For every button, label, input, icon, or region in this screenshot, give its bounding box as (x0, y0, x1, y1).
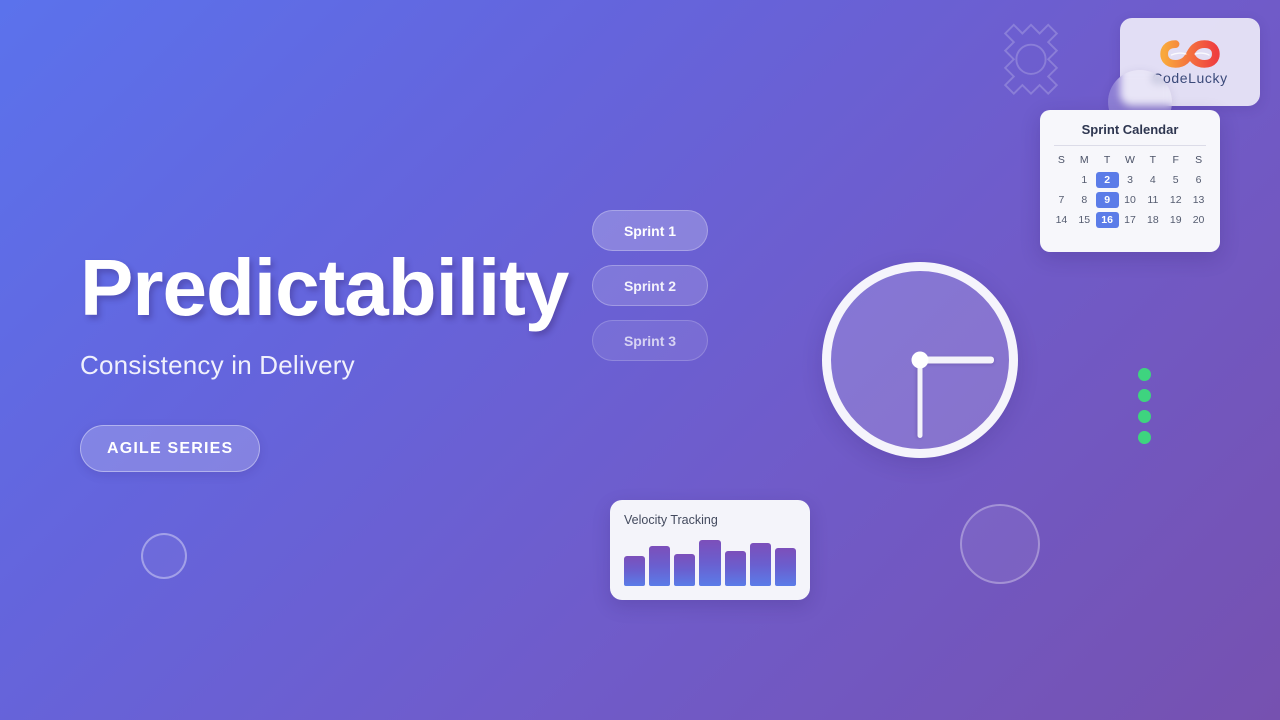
calendar-day (1050, 172, 1073, 188)
calendar-day[interactable]: 20 (1187, 212, 1210, 228)
status-dot-list (1138, 368, 1151, 444)
calendar-weekday-header: W (1119, 152, 1142, 168)
series-badge: AGILE SERIES (80, 425, 260, 472)
calendar-day[interactable]: 8 (1073, 192, 1096, 208)
status-dot (1138, 431, 1151, 444)
infinity-icon (1159, 39, 1221, 69)
calendar-title: Sprint Calendar (1050, 122, 1210, 137)
calendar-day[interactable]: 15 (1073, 212, 1096, 228)
sprint-list: Sprint 1 Sprint 2 Sprint 3 (592, 210, 708, 361)
status-dot (1138, 368, 1151, 381)
calendar-weekday-header: M (1073, 152, 1096, 168)
calendar-weekday-header: S (1050, 152, 1073, 168)
calendar-day[interactable]: 6 (1187, 172, 1210, 188)
clock-center-dot (912, 352, 929, 369)
clock-minute-hand (918, 360, 923, 438)
status-dot (1138, 410, 1151, 423)
velocity-bar (699, 540, 720, 586)
hero-text-block: Predictability Consistency in Delivery (80, 248, 568, 381)
calendar-day-active[interactable]: 2 (1096, 172, 1119, 188)
calendar-day[interactable]: 11 (1141, 192, 1164, 208)
velocity-card: Velocity Tracking (610, 500, 810, 600)
gear-icon (988, 18, 1074, 104)
velocity-bar (649, 546, 670, 586)
calendar-grid: SMTWTFS1234567891011121314151617181920 (1050, 152, 1210, 228)
decorative-circle-small (141, 533, 187, 579)
velocity-bar (725, 551, 746, 586)
calendar-weekday-header: S (1187, 152, 1210, 168)
calendar-weekday-header: F (1164, 152, 1187, 168)
calendar-day-active[interactable]: 9 (1096, 192, 1119, 208)
calendar-day[interactable]: 1 (1073, 172, 1096, 188)
calendar-day-active[interactable]: 16 (1096, 212, 1119, 228)
calendar-day[interactable]: 4 (1141, 172, 1164, 188)
sprint-calendar-card: Sprint Calendar SMTWTFS12345678910111213… (1040, 110, 1220, 252)
calendar-day[interactable]: 7 (1050, 192, 1073, 208)
calendar-day[interactable]: 14 (1050, 212, 1073, 228)
decorative-circle-large (960, 504, 1040, 584)
calendar-day[interactable]: 18 (1141, 212, 1164, 228)
calendar-day[interactable]: 17 (1119, 212, 1142, 228)
sprint-pill-1[interactable]: Sprint 1 (592, 210, 708, 251)
sprint-pill-3[interactable]: Sprint 3 (592, 320, 708, 361)
calendar-weekday-header: T (1141, 152, 1164, 168)
velocity-bar (624, 556, 645, 586)
sprint-pill-2[interactable]: Sprint 2 (592, 265, 708, 306)
calendar-day[interactable]: 10 (1119, 192, 1142, 208)
calendar-day[interactable]: 13 (1187, 192, 1210, 208)
clock-hour-hand (920, 357, 994, 364)
calendar-day[interactable]: 19 (1164, 212, 1187, 228)
status-dot (1138, 389, 1151, 402)
velocity-bar (775, 548, 796, 586)
calendar-day[interactable]: 12 (1164, 192, 1187, 208)
velocity-bar (750, 543, 771, 586)
slide-canvas: Predictability Consistency in Delivery A… (0, 0, 1280, 720)
calendar-weekday-header: T (1096, 152, 1119, 168)
velocity-bar (674, 554, 695, 586)
clock-icon (822, 262, 1018, 458)
calendar-day[interactable]: 5 (1164, 172, 1187, 188)
page-subtitle: Consistency in Delivery (80, 350, 568, 381)
calendar-day[interactable]: 3 (1119, 172, 1142, 188)
page-title: Predictability (80, 248, 568, 328)
calendar-divider (1054, 145, 1206, 146)
velocity-card-title: Velocity Tracking (624, 513, 796, 527)
velocity-bar-chart (624, 538, 796, 586)
